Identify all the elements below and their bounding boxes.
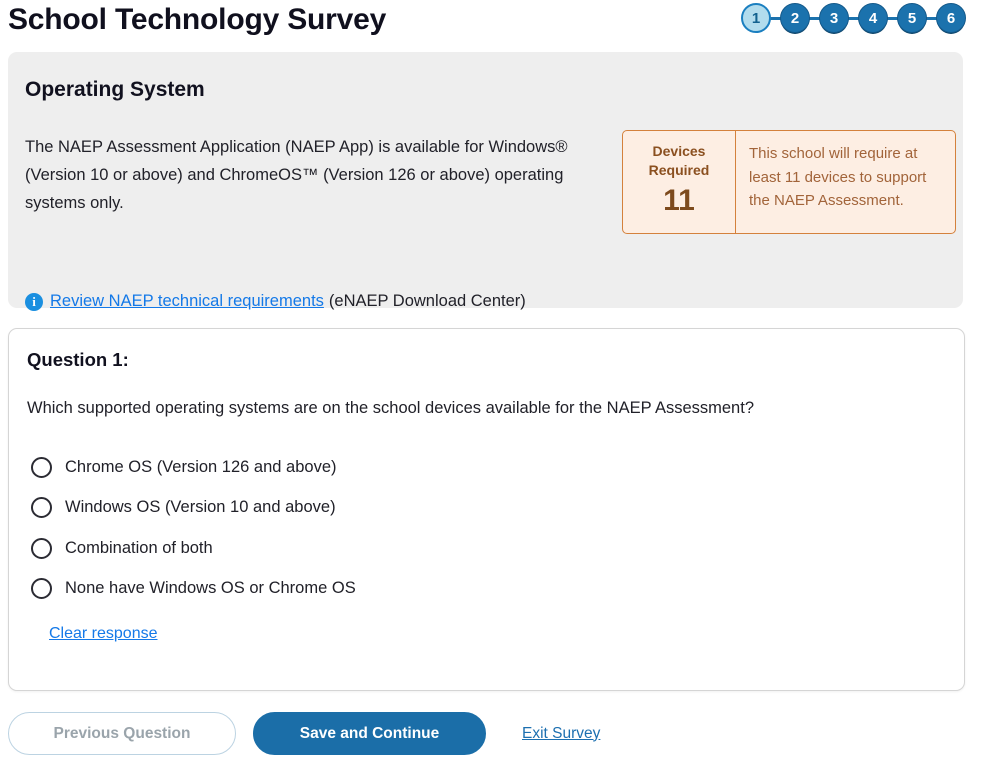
step-indicator-2[interactable]: 2 xyxy=(780,3,810,33)
option-row-combination[interactable]: Combination of both xyxy=(31,528,731,569)
option-row-chrome-os[interactable]: Chrome OS (Version 126 and above) xyxy=(31,447,731,488)
technical-requirements-row: i Review NAEP technical requirements (eN… xyxy=(25,292,526,311)
devices-required-callout: Devices Required 11 This school will req… xyxy=(622,130,956,234)
option-row-none[interactable]: None have Windows OS or Chrome OS xyxy=(31,569,731,610)
radio-button-windows-os[interactable] xyxy=(31,497,52,518)
download-center-note: (eNAEP Download Center) xyxy=(329,292,526,311)
exit-survey-link[interactable]: Exit Survey xyxy=(522,725,600,743)
page-header: School Technology Survey 1 2 3 4 5 6 xyxy=(0,0,981,44)
devices-required-message: This school will require at least 11 dev… xyxy=(736,131,955,233)
page-title: School Technology Survey xyxy=(8,0,386,40)
option-label-windows-os: Windows OS (Version 10 and above) xyxy=(65,498,336,517)
radio-button-combination[interactable] xyxy=(31,538,52,559)
radio-button-none[interactable] xyxy=(31,578,52,599)
operating-system-info-panel: Operating System The NAEP Assessment App… xyxy=(8,52,963,308)
previous-question-button[interactable]: Previous Question xyxy=(8,712,236,755)
review-technical-requirements-link[interactable]: Review NAEP technical requirements xyxy=(50,292,324,311)
survey-footer: Previous Question Save and Continue Exit… xyxy=(8,712,600,755)
info-panel-body-text: The NAEP Assessment Application (NAEP Ap… xyxy=(25,133,585,217)
info-panel-heading: Operating System xyxy=(25,78,205,102)
answer-options-group: Chrome OS (Version 126 and above) Window… xyxy=(31,447,731,609)
devices-required-summary: Devices Required 11 xyxy=(623,131,736,233)
devices-required-label-line1: Devices xyxy=(653,143,706,159)
question-prompt: Which supported operating systems are on… xyxy=(27,396,754,420)
radio-button-chrome-os[interactable] xyxy=(31,457,52,478)
option-label-combination: Combination of both xyxy=(65,539,213,558)
question-card: Question 1: Which supported operating sy… xyxy=(8,328,965,691)
question-number-label: Question 1: xyxy=(27,349,129,371)
option-label-chrome-os: Chrome OS (Version 126 and above) xyxy=(65,458,337,477)
info-circle-icon: i xyxy=(25,293,43,311)
step-indicator-6[interactable]: 6 xyxy=(936,3,966,33)
step-indicator-3[interactable]: 3 xyxy=(819,3,849,33)
clear-response-link[interactable]: Clear response xyxy=(49,625,158,643)
step-indicator-1[interactable]: 1 xyxy=(741,3,771,33)
save-and-continue-button[interactable]: Save and Continue xyxy=(253,712,486,755)
devices-required-label-line2: Required xyxy=(649,162,710,178)
survey-stepper: 1 2 3 4 5 6 xyxy=(741,3,966,33)
devices-required-label: Devices Required xyxy=(649,142,710,180)
option-label-none: None have Windows OS or Chrome OS xyxy=(65,579,356,598)
option-row-windows-os[interactable]: Windows OS (Version 10 and above) xyxy=(31,488,731,529)
step-indicator-5[interactable]: 5 xyxy=(897,3,927,33)
step-indicator-4[interactable]: 4 xyxy=(858,3,888,33)
devices-required-count: 11 xyxy=(663,184,695,218)
